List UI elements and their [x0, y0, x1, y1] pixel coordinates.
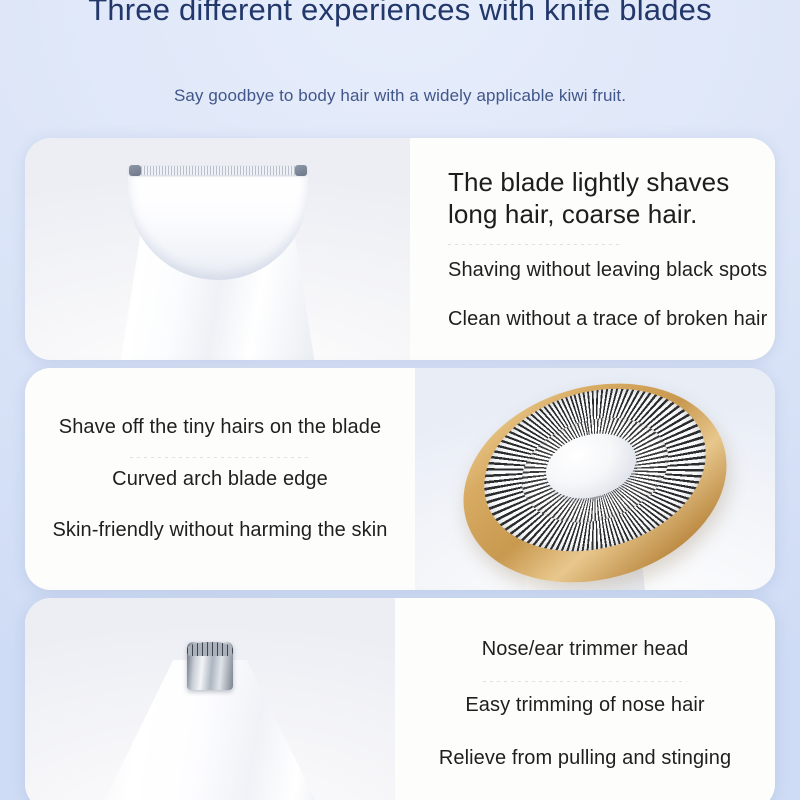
- dotted-divider: [448, 244, 623, 245]
- page-subtitle: Say goodbye to body hair with a widely a…: [0, 86, 800, 106]
- card-feature-line: Easy trimming of nose hair: [465, 694, 704, 717]
- card-image-pane: [415, 368, 775, 590]
- feature-card-blade-shaver: The blade lightly shaves long hair, coar…: [25, 138, 775, 360]
- card-text-pane: The blade lightly shaves long hair, coar…: [410, 138, 775, 360]
- card-text-pane: Shave off the tiny hairs on the blade Cu…: [25, 368, 415, 590]
- blade-end-cap-left-icon: [129, 165, 141, 176]
- dotted-divider: [130, 457, 311, 458]
- comb-blade-teeth: [129, 166, 307, 175]
- metal-trimmer-tip: [187, 642, 233, 690]
- feature-card-nose-ear-trimmer: Nose/ear trimmer head Easy trimming of n…: [25, 598, 775, 800]
- card-image-pane: [25, 598, 395, 800]
- feature-card-foil-shaver: Shave off the tiny hairs on the blade Cu…: [25, 368, 775, 590]
- card-feature-line: Clean without a trace of broken hair: [448, 308, 767, 331]
- card-image-pane: [25, 138, 410, 360]
- card-feature-line: Relieve from pulling and stinging: [439, 747, 731, 770]
- card-feature-line: Shaving without leaving black spots: [448, 259, 767, 282]
- page-title: Three different experiences with knife b…: [0, 0, 800, 28]
- blade-end-cap-right-icon: [295, 165, 307, 176]
- gold-foil-shaver-head-image: [415, 368, 775, 590]
- card-feature-line: Shave off the tiny hairs on the blade: [59, 416, 381, 439]
- card-headline: Nose/ear trimmer head: [482, 638, 689, 661]
- card-text-pane: Nose/ear trimmer head Easy trimming of n…: [395, 598, 775, 800]
- dotted-divider: [483, 681, 687, 682]
- card-headline: The blade lightly shaves long hair, coar…: [448, 167, 761, 230]
- card-feature-line: Skin-friendly without harming the skin: [52, 519, 387, 542]
- nose-trimmer-head-image: [25, 598, 395, 800]
- card-feature-line: Curved arch blade edge: [112, 468, 328, 491]
- comb-trimmer-head-image: [25, 138, 410, 360]
